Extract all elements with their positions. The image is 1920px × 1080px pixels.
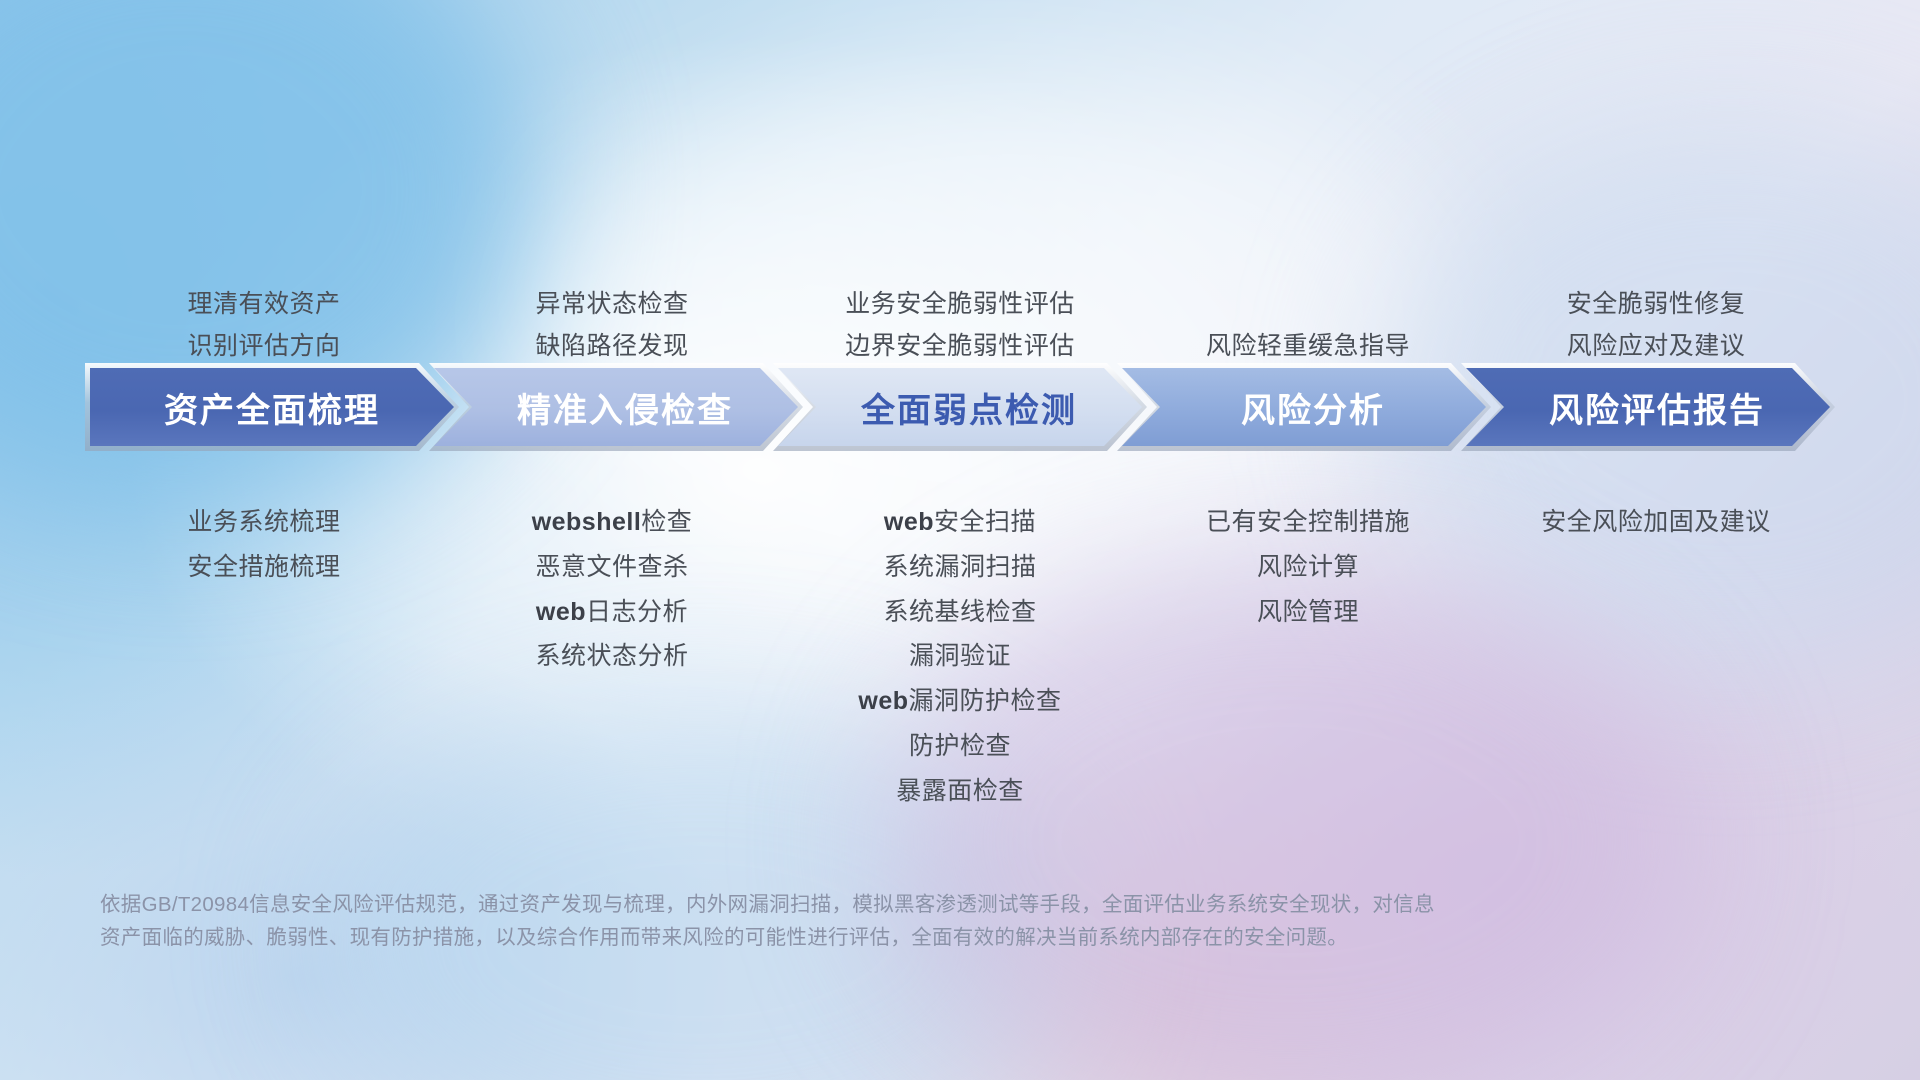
task-list-risk-analysis: 已有安全控制措施风险计算风险管理 — [1134, 508, 1482, 626]
task-list-item: 风险计算 — [1257, 553, 1359, 582]
task-list-item: 防护检查 — [909, 732, 1011, 761]
chevron-label: 风险评估报告 — [1531, 383, 1765, 432]
process-chevron-band: 资产全面梳理精准入侵检查全面弱点检测风险分析风险评估报告 — [90, 368, 1830, 446]
task-list-item: web安全扫描 — [884, 508, 1036, 537]
task-list-item: web漏洞防护检查 — [858, 687, 1061, 716]
chevron-label: 风险分析 — [1223, 383, 1385, 432]
top-outcome-item: 边界安全脆弱性评估 — [845, 333, 1075, 361]
task-list-item: webshell检查 — [532, 508, 693, 537]
task-text: 日志分析 — [586, 598, 688, 626]
top-outcomes-risk-analysis: 风险轻重缓急指导 — [1134, 333, 1482, 361]
task-list-item: 漏洞验证 — [909, 642, 1011, 671]
footer-description: 依据GB/T20984信息安全风险评估规范，通过资产发现与梳理，内外网漏洞扫描，… — [100, 888, 1800, 954]
task-list-item: 暴露面检查 — [896, 777, 1024, 806]
task-bold-prefix: web — [884, 508, 934, 536]
top-outcomes-asset-inventory: 理清有效资产识别评估方向 — [90, 291, 438, 360]
task-list-item: web日志分析 — [536, 598, 688, 627]
task-list-item: 安全风险加固及建议 — [1541, 508, 1771, 537]
task-bold-prefix: web — [858, 687, 908, 715]
task-list-item: 安全措施梳理 — [187, 553, 340, 582]
task-text: 安全扫描 — [934, 508, 1036, 536]
task-text: 漏洞防护检查 — [909, 687, 1062, 715]
task-list-asset-inventory: 业务系统梳理安全措施梳理 — [90, 508, 438, 582]
task-bold-prefix: webshell — [532, 508, 642, 536]
chevron-stage-risk-analysis[interactable]: 风险分析 — [1122, 368, 1486, 446]
task-list-item: 业务系统梳理 — [187, 508, 340, 537]
top-outcome-item: 风险轻重缓急指导 — [1206, 333, 1410, 361]
chevron-label: 全面弱点检测 — [843, 383, 1077, 432]
task-bold-prefix: web — [536, 598, 586, 626]
chevron-label: 精准入侵检查 — [499, 383, 733, 432]
chevron-stage-asset-inventory[interactable]: 资产全面梳理 — [90, 368, 454, 446]
chevron-label: 资产全面梳理 — [164, 383, 380, 432]
footer-line-2: 资产面临的威胁、脆弱性、现有防护措施，以及综合作用而带来风险的可能性进行评估，全… — [100, 921, 1800, 954]
task-list-item: 系统漏洞扫描 — [883, 553, 1036, 582]
task-list-item: 系统基线检查 — [883, 598, 1036, 627]
chevron-stage-weakness-detection[interactable]: 全面弱点检测 — [778, 368, 1142, 446]
task-list-risk-report: 安全风险加固及建议 — [1482, 508, 1830, 537]
slide-canvas: 理清有效资产识别评估方向业务系统梳理安全措施梳理异常状态检查缺陷路径发现webs… — [0, 0, 1920, 1080]
footer-line-1: 依据GB/T20984信息安全风险评估规范，通过资产发现与梳理，内外网漏洞扫描，… — [100, 888, 1800, 921]
top-outcome-item: 业务安全脆弱性评估 — [845, 291, 1075, 319]
top-outcome-item: 异常状态检查 — [535, 291, 688, 319]
task-list-item: 风险管理 — [1257, 598, 1359, 627]
task-list-item: 恶意文件查杀 — [535, 553, 688, 582]
task-list-intrusion-check: webshell检查恶意文件查杀web日志分析系统状态分析 — [438, 508, 786, 671]
task-list-item: 系统状态分析 — [535, 642, 688, 671]
top-outcomes-intrusion-check: 异常状态检查缺陷路径发现 — [438, 291, 786, 360]
task-list-item: 已有安全控制措施 — [1206, 508, 1410, 537]
top-outcome-item: 识别评估方向 — [187, 333, 340, 361]
task-text: 检查 — [641, 508, 692, 536]
top-outcome-item: 缺陷路径发现 — [535, 333, 688, 361]
top-outcomes-weakness-detection: 业务安全脆弱性评估边界安全脆弱性评估 — [786, 291, 1134, 360]
top-outcome-item: 风险应对及建议 — [1567, 333, 1746, 361]
top-outcome-item: 理清有效资产 — [187, 291, 340, 319]
chevron-stage-intrusion-check[interactable]: 精准入侵检查 — [434, 368, 798, 446]
top-outcomes-risk-report: 安全脆弱性修复风险应对及建议 — [1482, 291, 1830, 360]
task-list-weakness-detection: web安全扫描系统漏洞扫描系统基线检查漏洞验证web漏洞防护检查防护检查暴露面检… — [786, 508, 1134, 805]
top-outcome-item: 安全脆弱性修复 — [1567, 291, 1746, 319]
chevron-stage-risk-report[interactable]: 风险评估报告 — [1466, 368, 1830, 446]
